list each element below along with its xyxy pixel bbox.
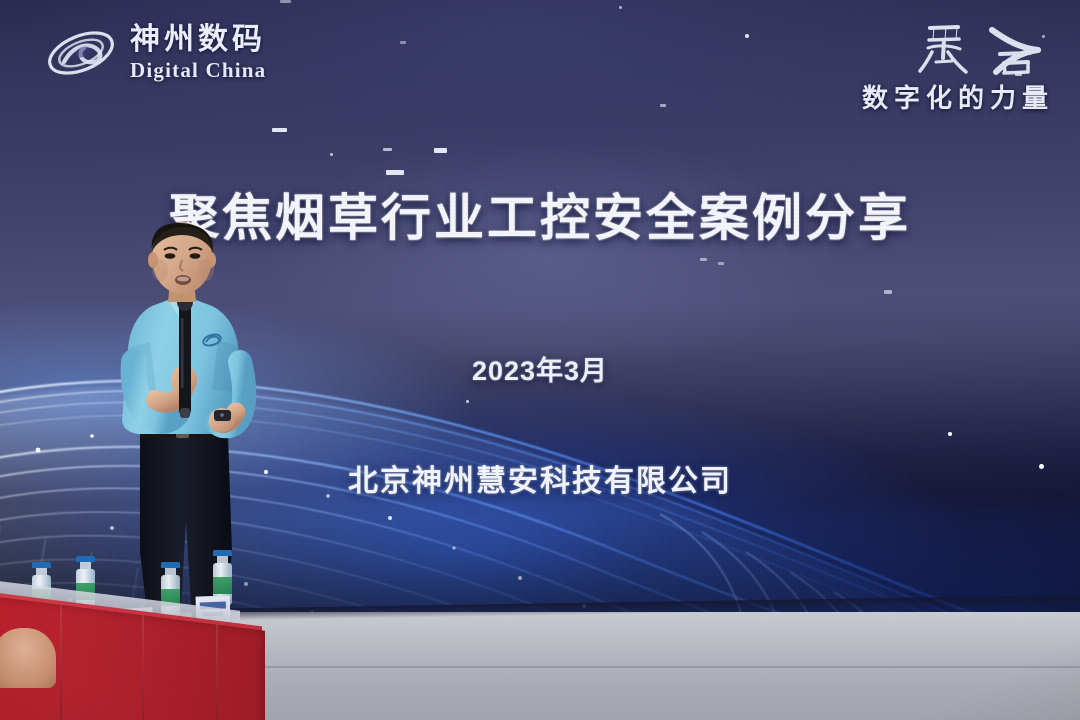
- speaker-eye-left: [165, 253, 176, 259]
- sparkle-dot: [330, 153, 333, 156]
- bottle-neck: [80, 562, 91, 569]
- speaker-figure: [96, 222, 286, 622]
- cloth-fold: [216, 625, 218, 720]
- digital-china-swirl-icon: [44, 22, 118, 84]
- cloth-fold: [142, 615, 144, 720]
- digital-china-wordmark: 神州数码 Digital China: [130, 25, 266, 81]
- sparkle-dash: [660, 104, 666, 107]
- sparkle-dot: [619, 6, 622, 9]
- sparkle-dash: [434, 148, 447, 153]
- speaker-presenter: [96, 222, 286, 622]
- event-theme-logo: 数字化的力量: [862, 18, 1054, 115]
- digital-china-logo: 神州数码 Digital China: [44, 22, 266, 84]
- sparkle-dash: [400, 41, 406, 44]
- sparkle-dash: [272, 128, 287, 132]
- bottle-neck: [165, 568, 176, 575]
- sparkle-dash: [386, 170, 404, 175]
- bottle-label: [213, 577, 232, 594]
- bottle-neck: [36, 568, 47, 575]
- digital-china-chinese-name: 神州数码: [130, 25, 266, 55]
- speaker-eye-right: [190, 253, 201, 259]
- microphone-icon: [177, 293, 193, 418]
- digital-china-english-name: Digital China: [130, 60, 266, 81]
- sparkle-dash: [280, 0, 291, 3]
- conference-stage-photo: 神州数码 Digital China: [0, 0, 1080, 720]
- sparkle-dot: [745, 34, 749, 38]
- event-theme-subtitle: 数字化的力量: [862, 78, 1054, 115]
- calligraphy-juhe-icon: [914, 18, 1054, 82]
- cloth-fold: [60, 605, 62, 720]
- sparkle-dash: [383, 148, 392, 151]
- seated-attendee: [0, 628, 56, 688]
- bottle-neck: [217, 556, 228, 563]
